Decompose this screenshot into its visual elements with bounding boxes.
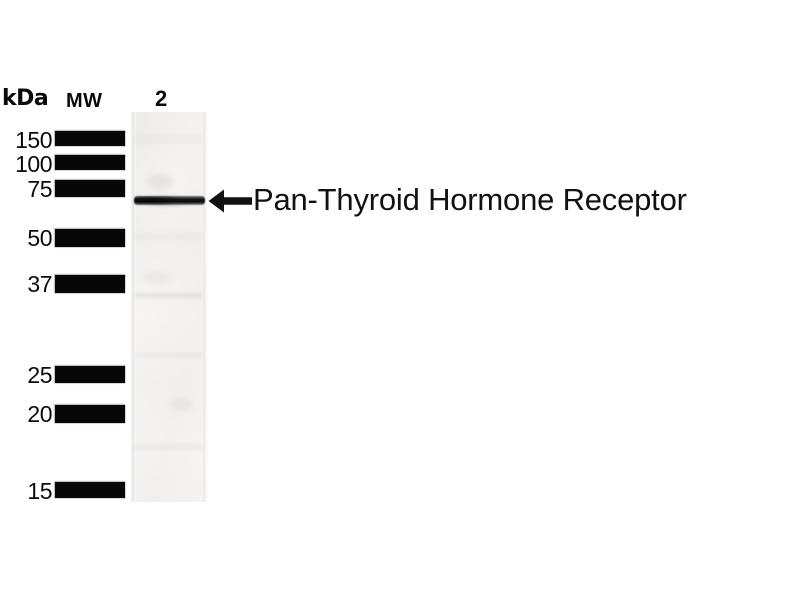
ladder-marker-bar [55, 275, 125, 293]
lane-number-label: 2 [155, 88, 167, 110]
western-blot-figure: kDa MW 2 150 100 75 50 37 25 20 [0, 0, 800, 600]
ladder-marker: 20 [0, 405, 126, 425]
ladder-marker: 75 [0, 180, 126, 200]
ladder-marker-value: 25 [27, 362, 52, 389]
faint-band [135, 292, 203, 299]
ladder-marker-bar [55, 131, 125, 146]
faint-band [135, 352, 203, 358]
ladder-marker-bar [55, 229, 125, 247]
faint-band [135, 442, 203, 452]
ladder-marker: 150 [0, 131, 126, 151]
ladder-marker-value: 150 [15, 127, 52, 154]
target-band-pan-thyroid-hormone-receptor [134, 196, 205, 205]
ladder-marker-bar [55, 405, 125, 423]
annotation-label: Pan-Thyroid Hormone Receptor [253, 182, 687, 218]
lane-speckle [141, 272, 171, 283]
molecular-weight-ladder: 150 100 75 50 37 25 20 15 [0, 0, 130, 600]
ladder-marker: 100 [0, 155, 126, 175]
ladder-marker-value: 37 [27, 271, 52, 298]
ladder-marker-bar [55, 366, 125, 383]
lane-speckle [147, 174, 173, 190]
left-arrow-icon [207, 185, 253, 217]
ladder-marker-value: 100 [15, 151, 52, 178]
faint-band [135, 132, 203, 146]
gel-lane-2 [133, 112, 205, 502]
ladder-marker: 50 [0, 229, 126, 249]
faint-band [135, 232, 203, 241]
ladder-marker-bar [55, 180, 125, 197]
ladder-marker-value: 50 [27, 225, 52, 252]
ladder-marker-value: 15 [27, 478, 52, 505]
ladder-marker: 37 [0, 275, 126, 295]
ladder-marker: 15 [0, 482, 126, 502]
ladder-marker-value: 20 [27, 401, 52, 428]
ladder-marker-bar [55, 482, 125, 498]
ladder-marker-value: 75 [27, 176, 52, 203]
lane-speckle [171, 398, 193, 410]
ladder-marker-bar [55, 155, 125, 170]
ladder-marker: 25 [0, 366, 126, 386]
